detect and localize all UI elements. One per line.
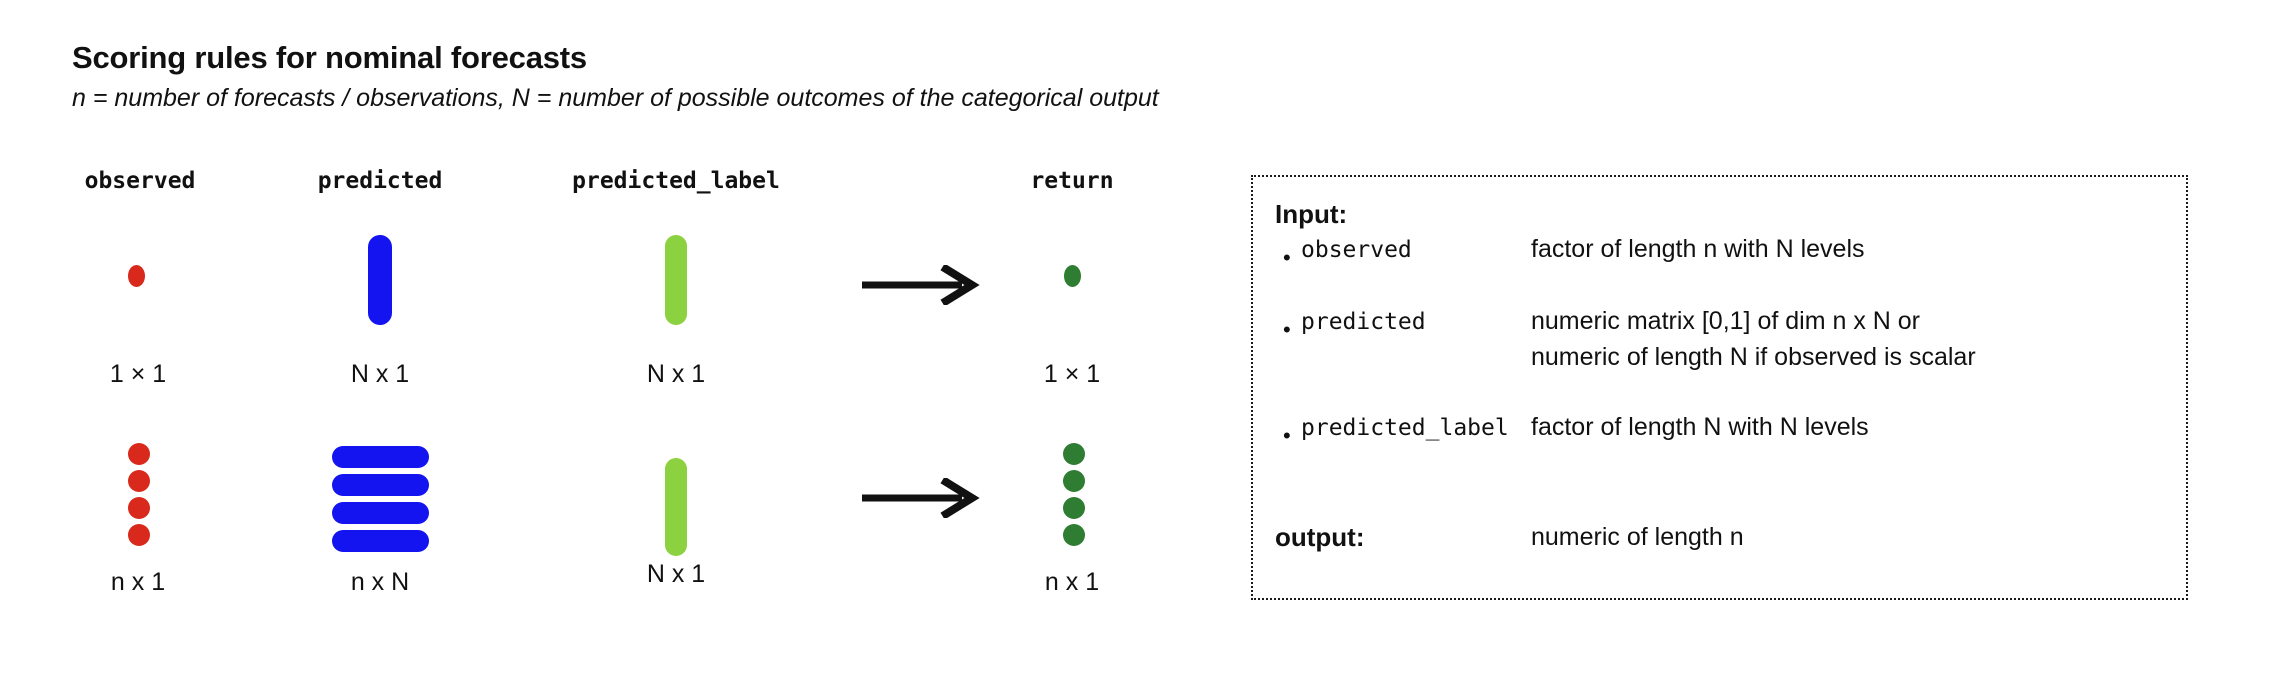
legend-input-heading: Input: [1275,199,1347,230]
dim-label-predicted-row1: N x 1 [351,360,409,389]
right-arrow-row2 [862,478,980,518]
dim-label-observed-row2: n x 1 [111,568,165,597]
observed-dot-row2 [128,443,150,465]
legend-key-predicted-label: predicted_label [1301,415,1509,441]
return-dot-row2 [1063,470,1085,492]
predicted-bar-row1 [368,235,392,325]
bullet-icon: • [1283,247,1291,269]
right-arrow-row1 [862,265,980,305]
dim-label-predicted-label-row1: N x 1 [647,360,705,389]
legend-value-predicted-line1: numeric matrix [0,1] of dim n x N or [1531,307,1920,336]
legend-output-heading: output: [1275,522,1365,553]
bullet-icon: • [1283,319,1291,341]
observed-dot-row2 [128,524,150,546]
legend-key-observed: observed [1301,237,1412,263]
dim-label-observed-row1: 1 × 1 [110,360,166,389]
io-spec-box: Input: • observed factor of length n wit… [1251,175,2188,600]
dim-label-predicted-label-row2: N x 1 [647,560,705,589]
return-dot-row2 [1063,497,1085,519]
predicted-bar-row2 [332,530,429,552]
predicted-label-bar-row1 [665,235,687,325]
predicted-bar-row2 [332,446,429,468]
observed-dot-row1 [128,265,145,287]
dim-label-return-row2: n x 1 [1045,568,1099,597]
legend-value-observed-line1: factor of length n with N levels [1531,235,1865,264]
predicted-label-bar-row2 [665,458,687,556]
return-dot-row1 [1064,265,1081,287]
column-header-predicted-label: predicted_label [572,168,780,194]
predicted-bar-row2 [332,474,429,496]
legend-key-predicted: predicted [1301,309,1426,335]
dim-label-return-row1: 1 × 1 [1044,360,1100,389]
legend-value-output: numeric of length n [1531,523,1744,552]
observed-dot-row2 [128,470,150,492]
observed-dot-row2 [128,497,150,519]
column-header-return: return [1030,168,1113,194]
return-dot-row2 [1063,524,1085,546]
dim-label-predicted-row2: n x N [351,568,409,597]
legend-value-predicted-line2: numeric of length N if observed is scala… [1531,343,1976,372]
column-header-predicted: predicted [318,168,443,194]
column-header-observed: observed [85,168,196,194]
diagram-panel: observed predicted predicted_label retur… [0,0,1230,694]
predicted-bar-row2 [332,502,429,524]
legend-value-predicted-label-line1: factor of length N with N levels [1531,413,1869,442]
return-dot-row2 [1063,443,1085,465]
bullet-icon: • [1283,425,1291,447]
